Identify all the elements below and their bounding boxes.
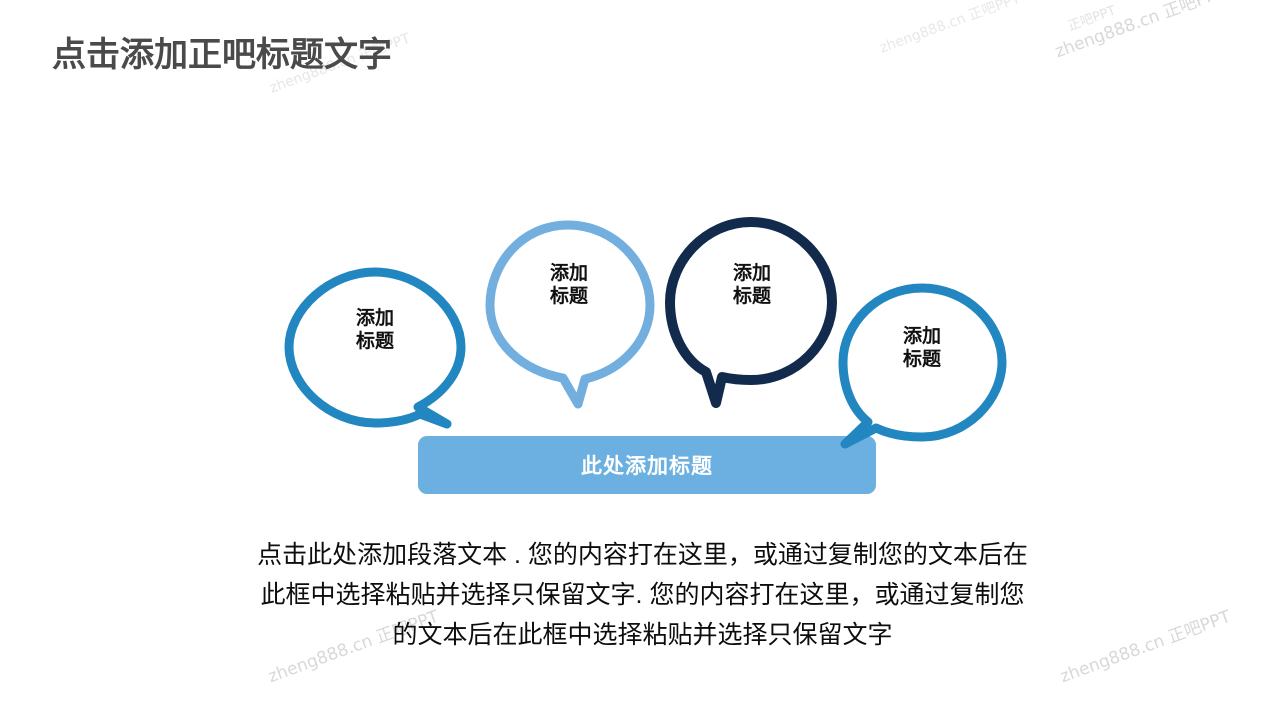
- body-paragraph[interactable]: 点击此处添加段落文本 . 您的内容打在这里，或通过复制您的文本后在 此框中选择粘…: [140, 535, 1145, 655]
- bubble-1-label[interactable]: 添加 标题: [320, 307, 430, 353]
- bubble-3-shape: [670, 222, 832, 403]
- watermark-top-right: zheng888.cn 正吧PPT: [1051, 0, 1229, 62]
- slide-canvas: zheng888.cn 正吧PPT zheng888.cn 正吧PPT 正吧PP…: [0, 0, 1280, 720]
- paragraph-line-2: 此框中选择粘贴并选择只保留文字. 您的内容打在这里，或通过复制您: [140, 575, 1145, 615]
- paragraph-line-3: 的文本后在此框中选择粘贴并选择只保留文字: [140, 615, 1145, 655]
- bubble-4-label[interactable]: 添加 标题: [867, 325, 977, 371]
- bubble-3-label[interactable]: 添加 标题: [697, 262, 807, 308]
- paragraph-line-1: 点击此处添加段落文本 . 您的内容打在这里，或通过复制您的文本后在: [140, 535, 1145, 575]
- watermark-faint-top-center: zheng888.cn 正吧PPT: [877, 0, 1023, 57]
- banner-label: 此处添加标题: [581, 450, 713, 480]
- banner-bar[interactable]: 此处添加标题: [418, 436, 876, 494]
- bubble-2-label[interactable]: 添加 标题: [514, 262, 624, 308]
- page-title: 点击添加正吧标题文字: [52, 27, 392, 76]
- bubble-2-shape: [490, 225, 650, 404]
